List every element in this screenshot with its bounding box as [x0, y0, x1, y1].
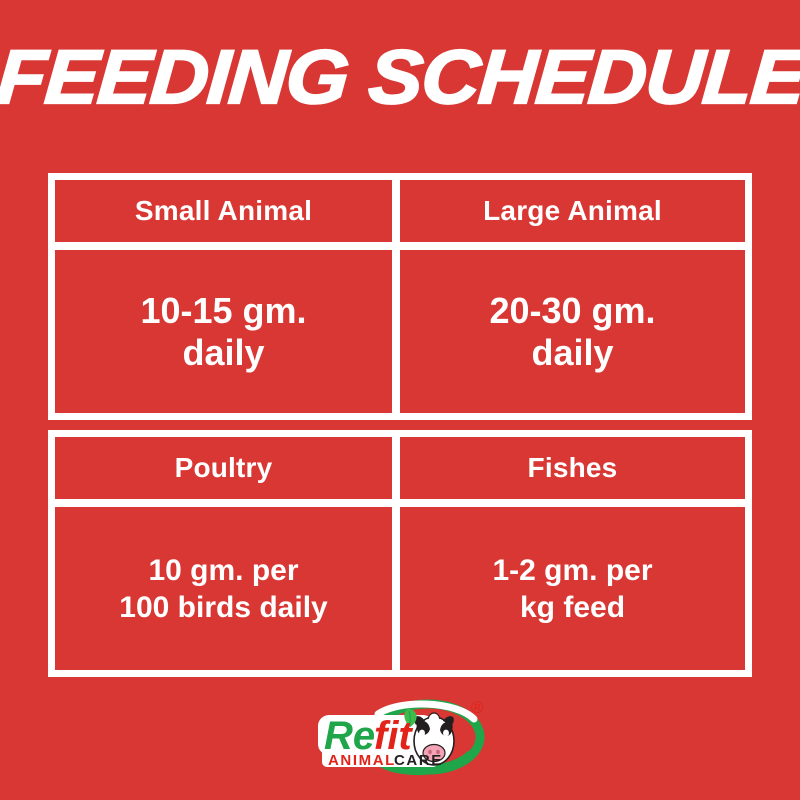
table-cell-poultry-dose: 10 gm. per 100 birds daily: [55, 507, 400, 670]
dose-line-2: daily: [531, 332, 613, 373]
dose-text: 10-15 gm. daily: [140, 290, 306, 374]
page-title-container: FEEDING SCHEDULE: [0, 36, 800, 120]
table-header-row: Poultry Fishes: [55, 437, 745, 507]
dose-line-1: 1-2 gm. per: [492, 554, 652, 587]
table-cell-large-animal-dose: 20-30 gm. daily: [400, 250, 745, 413]
table-header-cell-small-animal: Small Animal: [55, 180, 400, 242]
feeding-schedule-poster: FEEDING SCHEDULE Small Animal Large Anim…: [0, 0, 800, 800]
table-cell-small-animal-dose: 10-15 gm. daily: [55, 250, 400, 413]
dose-line-1: 10-15 gm.: [140, 290, 306, 331]
table-data-row: 10 gm. per 100 birds daily 1-2 gm. per k…: [55, 507, 745, 670]
brand-logo: Re fit ANIMAL CARE ®: [316, 697, 494, 781]
table-header-row: Small Animal Large Animal: [55, 180, 745, 250]
dose-line-1: 10 gm. per: [148, 554, 298, 587]
logo-tagline-care: CARE: [394, 752, 443, 769]
table-header-cell-large-animal: Large Animal: [400, 180, 745, 242]
dose-line-2: daily: [182, 332, 264, 373]
table-header-label: Poultry: [175, 452, 273, 484]
table-header-label: Fishes: [528, 452, 618, 484]
table-data-row: 10-15 gm. daily 20-30 gm. daily: [55, 250, 745, 413]
dose-line-2: 100 birds daily: [119, 591, 327, 624]
logo-tagline-animal: ANIMAL: [328, 752, 396, 769]
table-header-cell-poultry: Poultry: [55, 437, 400, 499]
table-header-label: Small Animal: [135, 195, 312, 227]
dose-text: 20-30 gm. daily: [489, 290, 655, 374]
feeding-table-small-large: Small Animal Large Animal 10-15 gm. dail…: [48, 173, 752, 420]
registered-trademark-icon: ®: [471, 698, 484, 717]
dose-line-2: kg feed: [520, 591, 625, 624]
feeding-table-poultry-fishes: Poultry Fishes 10 gm. per 100 birds dail…: [48, 430, 752, 677]
table-header-cell-fishes: Fishes: [400, 437, 745, 499]
dose-text: 10 gm. per 100 birds daily: [119, 552, 327, 626]
dose-line-1: 20-30 gm.: [489, 290, 655, 331]
dose-text: 1-2 gm. per kg feed: [492, 552, 652, 626]
page-title: FEEDING SCHEDULE: [0, 38, 800, 118]
table-header-label: Large Animal: [483, 195, 662, 227]
table-cell-fishes-dose: 1-2 gm. per kg feed: [400, 507, 745, 670]
